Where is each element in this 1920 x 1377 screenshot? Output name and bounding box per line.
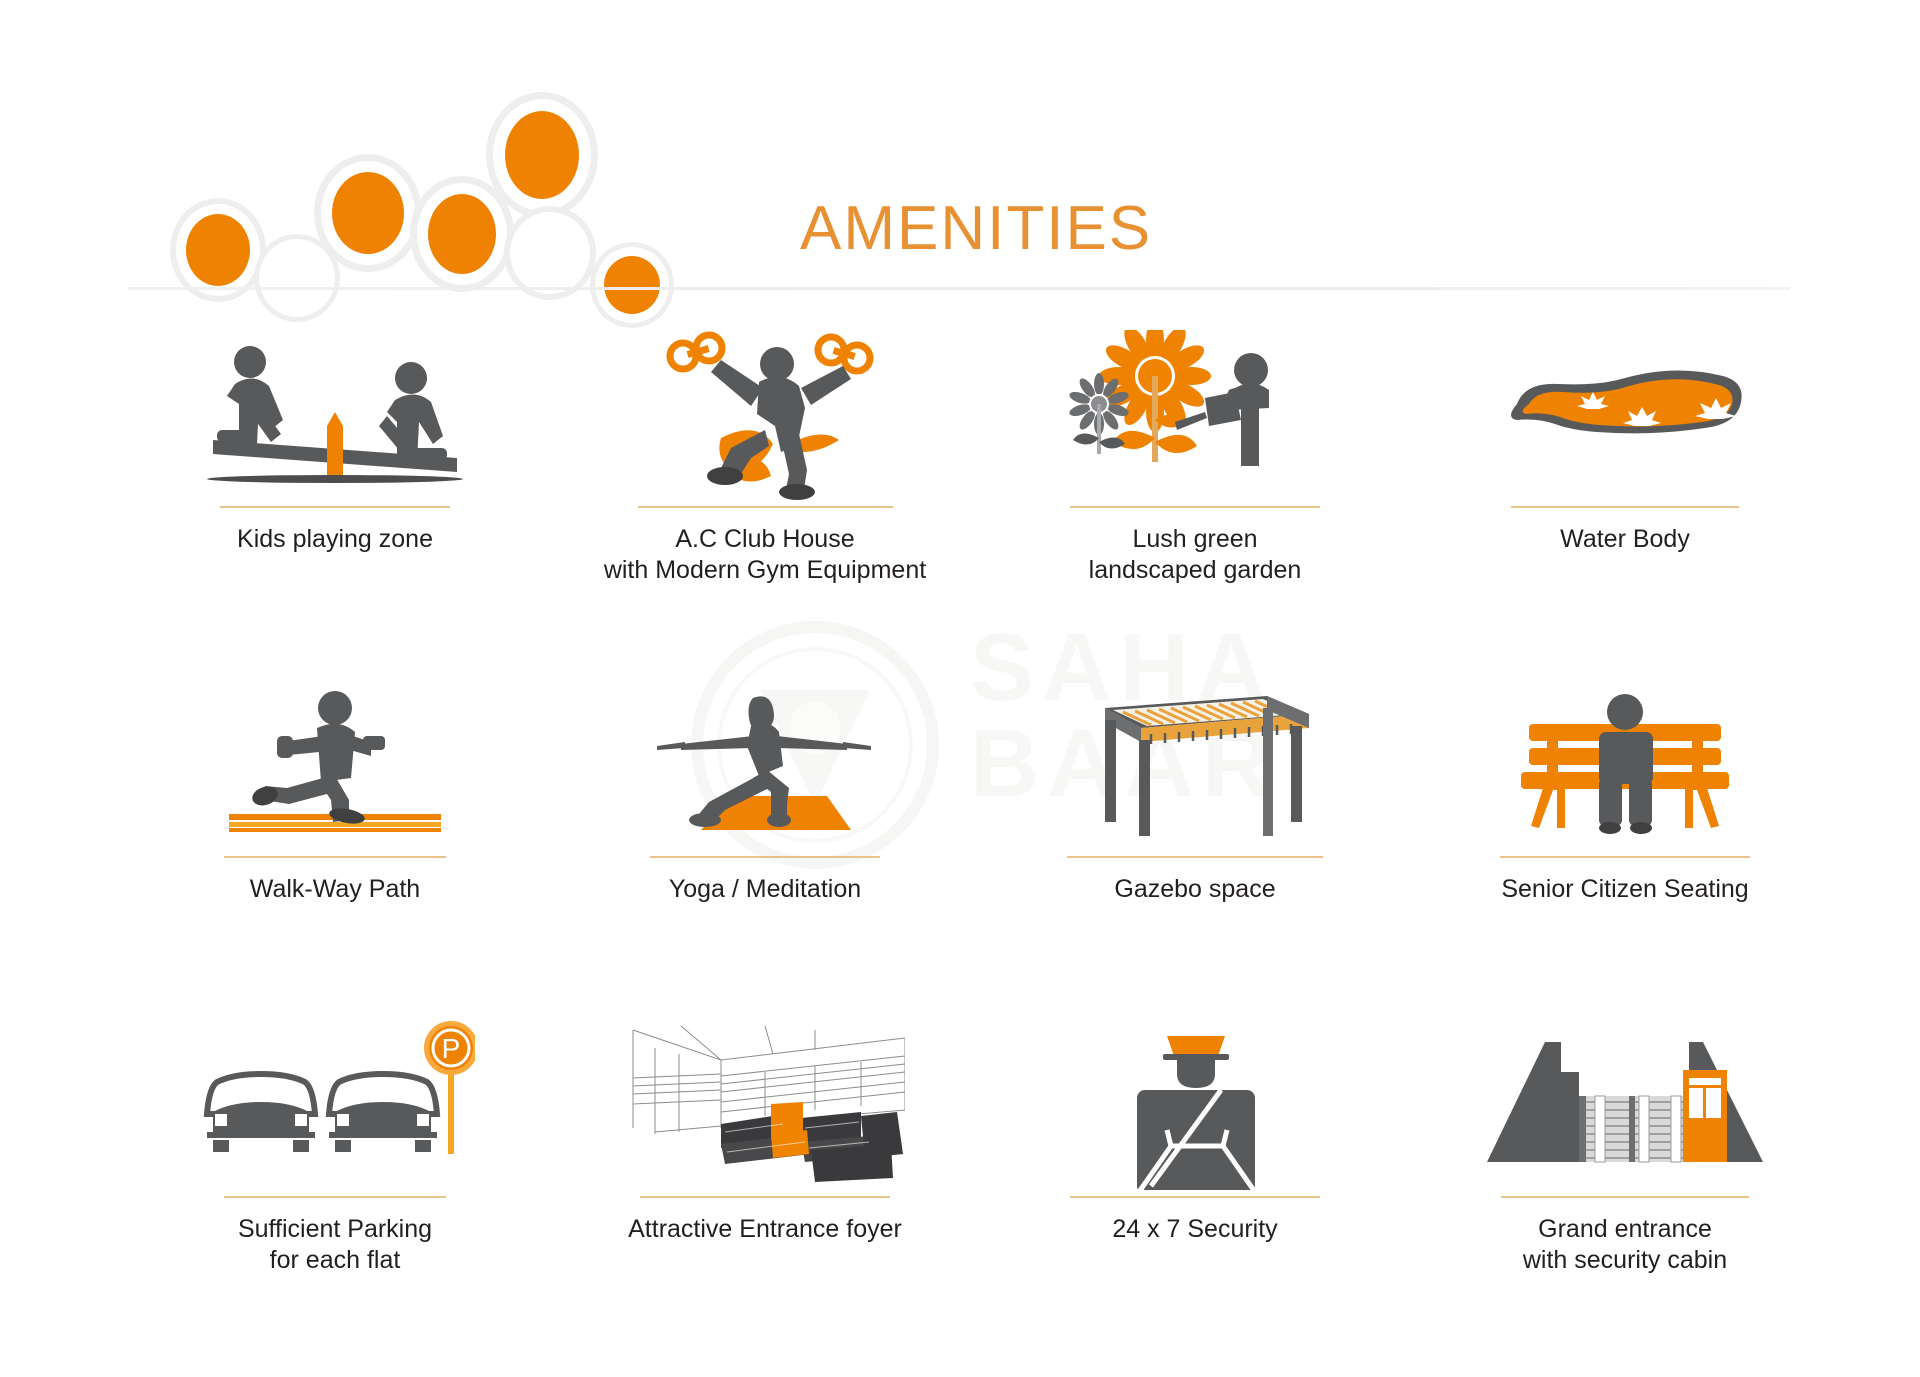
amenities-row-1: Kids playing zone xyxy=(0,330,1920,680)
amenity-landscaped-garden[interactable]: Lush green landscaped garden xyxy=(980,330,1410,680)
amenity-senior-citizen-seating[interactable]: Senior Citizen Seating xyxy=(1410,680,1840,1020)
amenity-label: Lush green landscaped garden xyxy=(1089,524,1302,586)
caption-divider xyxy=(1070,1196,1320,1198)
caption-divider xyxy=(1067,856,1323,858)
bubble-7 xyxy=(590,242,674,328)
amenity-label: Attractive Entrance foyer xyxy=(628,1214,902,1245)
bubble-3 xyxy=(314,154,422,272)
amenity-security[interactable]: 24 x 7 Security xyxy=(980,1020,1410,1350)
decorative-bubbles xyxy=(170,100,810,290)
amenity-label: Gazebo space xyxy=(1114,874,1275,905)
pond-icon xyxy=(1485,330,1765,500)
amenity-label: Walk-Way Path xyxy=(250,874,420,905)
caption-divider xyxy=(638,506,893,508)
cars-parking-sign-icon: P xyxy=(195,1020,475,1190)
amenity-entrance-foyer[interactable]: Attractive Entrance foyer xyxy=(550,1020,980,1350)
yoga-pose-icon xyxy=(625,680,905,850)
security-guard-icon xyxy=(1055,1020,1335,1190)
amenity-label: Yoga / Meditation xyxy=(669,874,861,905)
sunflower-gardener-icon xyxy=(1055,330,1335,500)
amenity-grand-entrance[interactable]: Grand entrance with security cabin xyxy=(1410,1020,1840,1350)
amenity-kids-playing-zone[interactable]: Kids playing zone xyxy=(120,330,550,680)
page-title: AMENITIES xyxy=(800,198,1152,260)
park-bench-icon xyxy=(1485,680,1765,850)
svg-text:P: P xyxy=(442,1033,461,1064)
amenity-label: Sufficient Parking for each flat xyxy=(238,1214,432,1276)
amenity-gazebo-space[interactable]: Gazebo space xyxy=(980,680,1410,1020)
amenity-sufficient-parking[interactable]: P Sufficient Parking for each flat xyxy=(120,1020,550,1350)
bubble-5 xyxy=(486,92,598,218)
amenity-water-body[interactable]: Water Body xyxy=(1410,330,1840,680)
lounge-interior-icon xyxy=(625,1020,905,1190)
caption-divider xyxy=(1501,1196,1749,1198)
seesaw-icon xyxy=(195,330,475,500)
amenity-yoga-meditation[interactable]: Yoga / Meditation xyxy=(550,680,980,1020)
amenities-row-2: Walk-Way Path xyxy=(0,680,1920,1020)
dumbbell-figure-icon xyxy=(625,330,905,500)
caption-divider xyxy=(220,506,450,508)
caption-divider xyxy=(1070,506,1320,508)
amenities-grid: Kids playing zone xyxy=(0,330,1920,1350)
amenity-label: 24 x 7 Security xyxy=(1112,1214,1277,1245)
gate-cabin-icon xyxy=(1485,1020,1765,1190)
amenity-label: A.C Club House with Modern Gym Equipment xyxy=(604,524,926,586)
caption-divider xyxy=(1500,856,1750,858)
caption-divider xyxy=(640,1196,890,1198)
pergola-icon xyxy=(1055,680,1335,850)
bubble-6-empty xyxy=(504,206,596,300)
caption-divider xyxy=(224,1196,446,1198)
amenities-row-3: P Sufficient Parking for each flat xyxy=(0,1020,1920,1350)
header-divider xyxy=(128,287,1790,290)
caption-divider xyxy=(650,856,880,858)
page-header: AMENITIES xyxy=(0,0,1920,300)
amenity-label: Grand entrance with security cabin xyxy=(1523,1214,1727,1276)
amenity-label: Senior Citizen Seating xyxy=(1501,874,1748,905)
amenity-label: Water Body xyxy=(1560,524,1690,555)
amenity-label: Kids playing zone xyxy=(237,524,433,555)
caption-divider xyxy=(1511,506,1739,508)
runner-icon xyxy=(195,680,475,850)
amenity-ac-club-house[interactable]: A.C Club House with Modern Gym Equipment xyxy=(550,330,980,680)
amenity-walk-way-path[interactable]: Walk-Way Path xyxy=(120,680,550,1020)
caption-divider xyxy=(224,856,446,858)
